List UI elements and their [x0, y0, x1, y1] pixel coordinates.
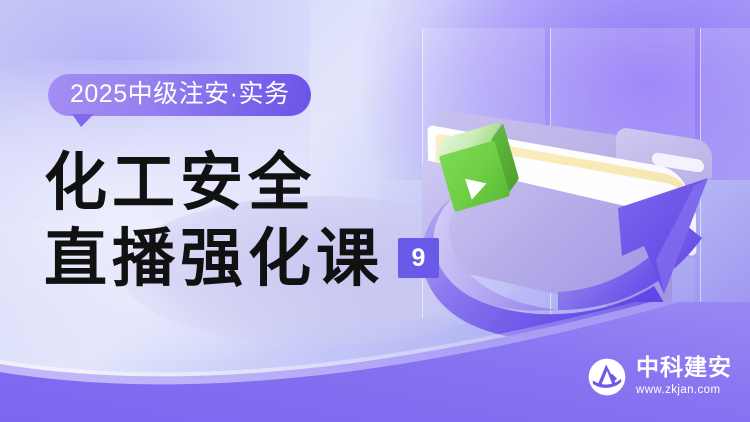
- logo-website-url: www.zkjan.com: [636, 384, 732, 398]
- title-line-1: 化工安全: [44, 146, 316, 219]
- title-line-2: 直播强化课: [44, 226, 384, 292]
- episode-number-badge: 9: [398, 238, 439, 278]
- curved-arrow-icon: [408, 110, 738, 350]
- course-category-label: 2025中级注安·实务: [48, 74, 311, 116]
- panel-strip-3: [700, 28, 750, 318]
- title-line-1-wrap: 化工安全: [44, 150, 444, 216]
- zkjan-logo-icon: [587, 357, 627, 397]
- folder-tab-slot: [652, 152, 704, 173]
- panel-strip-2: [550, 28, 695, 318]
- title-line-2-wrap: 直播强化课 9: [44, 226, 444, 292]
- folder-back-icon: [436, 109, 698, 258]
- cube-top-face: [435, 122, 500, 159]
- course-banner: 2025中级注安·实务 化工安全 直播强化课 9 中科建安 www.zkjan.…: [0, 0, 750, 422]
- brand-logo: 中科建安 www.zkjan.com: [587, 356, 732, 398]
- banner-content: 2025中级注安·实务 化工安全 直播强化课 9: [0, 0, 430, 422]
- cube-front-face: [439, 140, 511, 212]
- cube-side-face: [491, 123, 519, 195]
- logo-text-block: 中科建安 www.zkjan.com: [636, 356, 732, 398]
- badge-tail-icon: [72, 114, 94, 127]
- folder-front-icon: [422, 159, 672, 321]
- folder-tab-icon: [616, 126, 712, 187]
- title-block: 化工安全 直播强化课 9: [44, 150, 444, 291]
- paper-sheet-white-front-icon: [443, 144, 696, 257]
- logo-company-name: 中科建安: [636, 356, 732, 382]
- background-panels: [422, 28, 750, 318]
- paper-sheet-yellow-icon: [435, 133, 694, 249]
- play-triangle-icon: [465, 173, 490, 200]
- paper-sheet-white-back-icon: [427, 125, 690, 246]
- green-play-cube-icon: [436, 128, 520, 212]
- illustration: [420, 96, 750, 346]
- course-category-badge: 2025中级注安·实务: [48, 74, 311, 116]
